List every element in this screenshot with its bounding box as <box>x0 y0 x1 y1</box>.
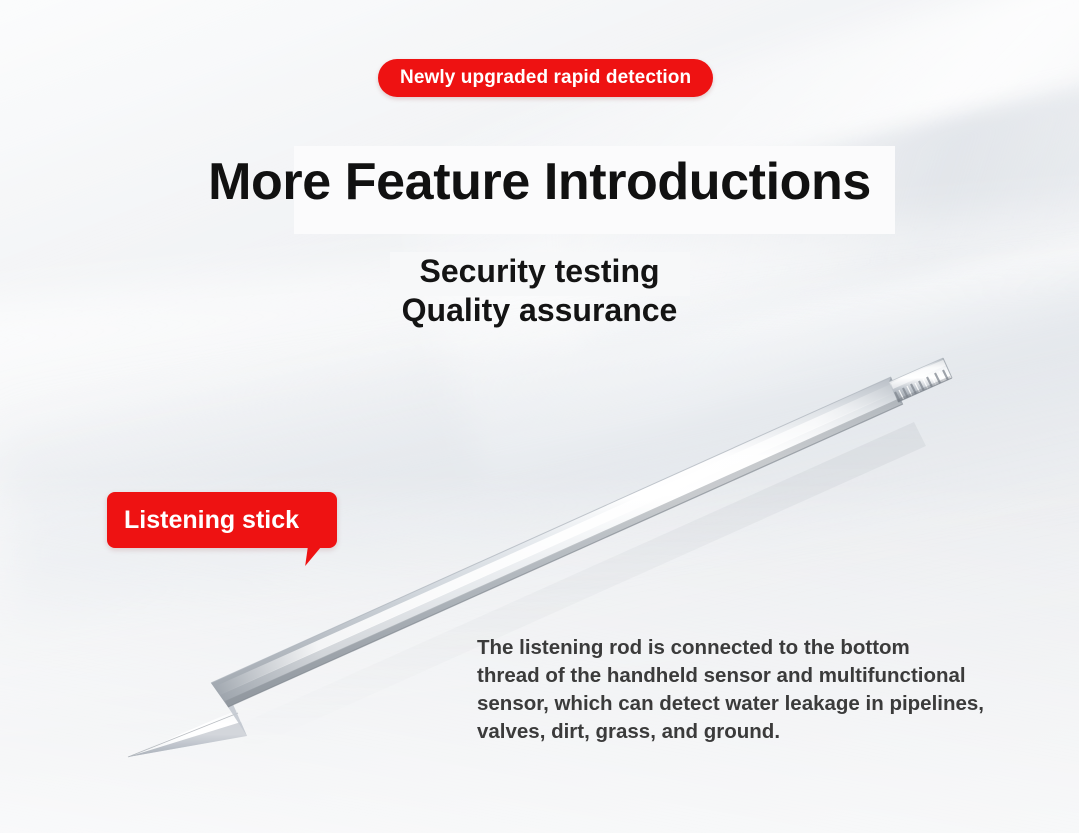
product-feature-poster: Newly upgraded rapid detection More Feat… <box>0 0 1079 833</box>
description-line-3: sensor, which can detect water leakage i… <box>477 690 1057 718</box>
promo-badge-label: Newly upgraded rapid detection <box>400 67 691 89</box>
subtitle: Security testing Quality assurance <box>0 252 1079 330</box>
description-line-1: The listening rod is connected to the bo… <box>477 634 1057 662</box>
callout-tail <box>305 540 327 566</box>
subtitle-line-2: Quality assurance <box>0 291 1079 330</box>
page-title: More Feature Introductions <box>0 152 1079 212</box>
description-line-2: thread of the handheld sensor and multif… <box>477 662 1057 690</box>
promo-badge: Newly upgraded rapid detection <box>378 59 713 97</box>
product-callout-label: Listening stick <box>107 506 299 535</box>
product-callout-bubble: Listening stick <box>107 492 337 548</box>
subtitle-line-1: Security testing <box>0 252 1079 291</box>
product-description: The listening rod is connected to the bo… <box>477 634 1057 746</box>
description-line-4: valves, dirt, grass, and ground. <box>477 718 1057 746</box>
